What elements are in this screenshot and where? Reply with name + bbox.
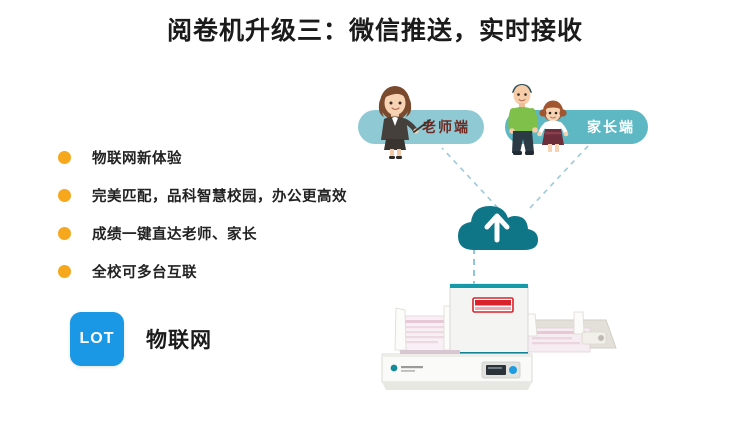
page-title: 阅卷机升级三：微信推送，实时接收 — [0, 14, 750, 48]
iot-badge-text: LOT — [80, 330, 115, 348]
list-item-label: 物联网新体验 — [92, 147, 182, 168]
feature-bullet-list: 物联网新体验 完美匹配，品科智慧校园，办公更高效 成绩一键直达老师、家长 全校可… — [58, 138, 368, 290]
bullet-dot-icon — [58, 189, 71, 202]
iot-badge-icon: LOT — [70, 312, 124, 366]
omr-scanner-icon — [378, 276, 623, 394]
cloud-upload-icon — [452, 196, 542, 252]
bullet-dot-icon — [58, 227, 71, 240]
list-item: 成绩一键直达老师、家长 — [58, 214, 368, 252]
list-item-label: 成绩一键直达老师、家长 — [92, 223, 257, 244]
iot-badge-block: LOT 物联网 — [70, 312, 212, 366]
teacher-figure-icon — [370, 82, 432, 160]
list-item: 完美匹配，品科智慧校园，办公更高效 — [58, 176, 368, 214]
bullet-dot-icon — [58, 265, 71, 278]
bullet-dot-icon — [58, 151, 71, 164]
list-item-label: 全校可多台互联 — [92, 261, 197, 282]
list-item: 物联网新体验 — [58, 138, 368, 176]
list-item-label: 完美匹配，品科智慧校园，办公更高效 — [92, 185, 347, 206]
parent-and-child-figure-icon — [503, 80, 575, 162]
slide-canvas: 阅卷机升级三：微信推送，实时接收 物联网新体验 完美匹配，品科智慧校园，办公更高… — [0, 0, 750, 433]
parent-role-label: 家长端 — [587, 117, 635, 137]
iot-label: 物联网 — [146, 324, 212, 354]
list-item: 全校可多台互联 — [58, 252, 368, 290]
